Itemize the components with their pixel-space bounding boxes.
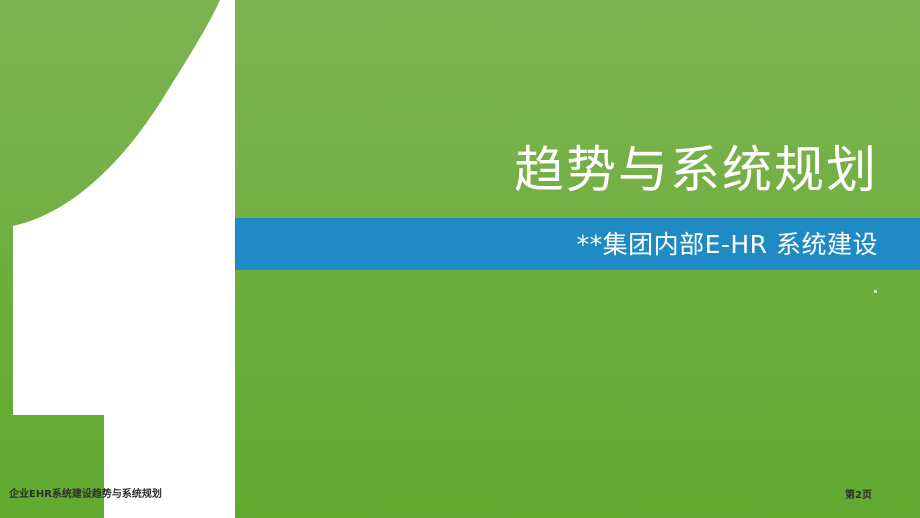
- footer-page-number: 第2页: [845, 490, 872, 502]
- footer-deck-title: 企业EHR系统建设趋势与系统规划: [9, 489, 162, 501]
- subtitle-band: **集团内部E-HR 系统建设: [235, 218, 920, 270]
- presentation-slide: 趋势与系统规划 **集团内部E-HR 系统建设 企业EHR系统建设趋势与系统规划…: [0, 0, 920, 518]
- slide-subtitle: **集团内部E-HR 系统建设: [577, 232, 878, 257]
- decor-dot: [874, 290, 877, 293]
- slide-title: 趋势与系统规划: [300, 138, 878, 202]
